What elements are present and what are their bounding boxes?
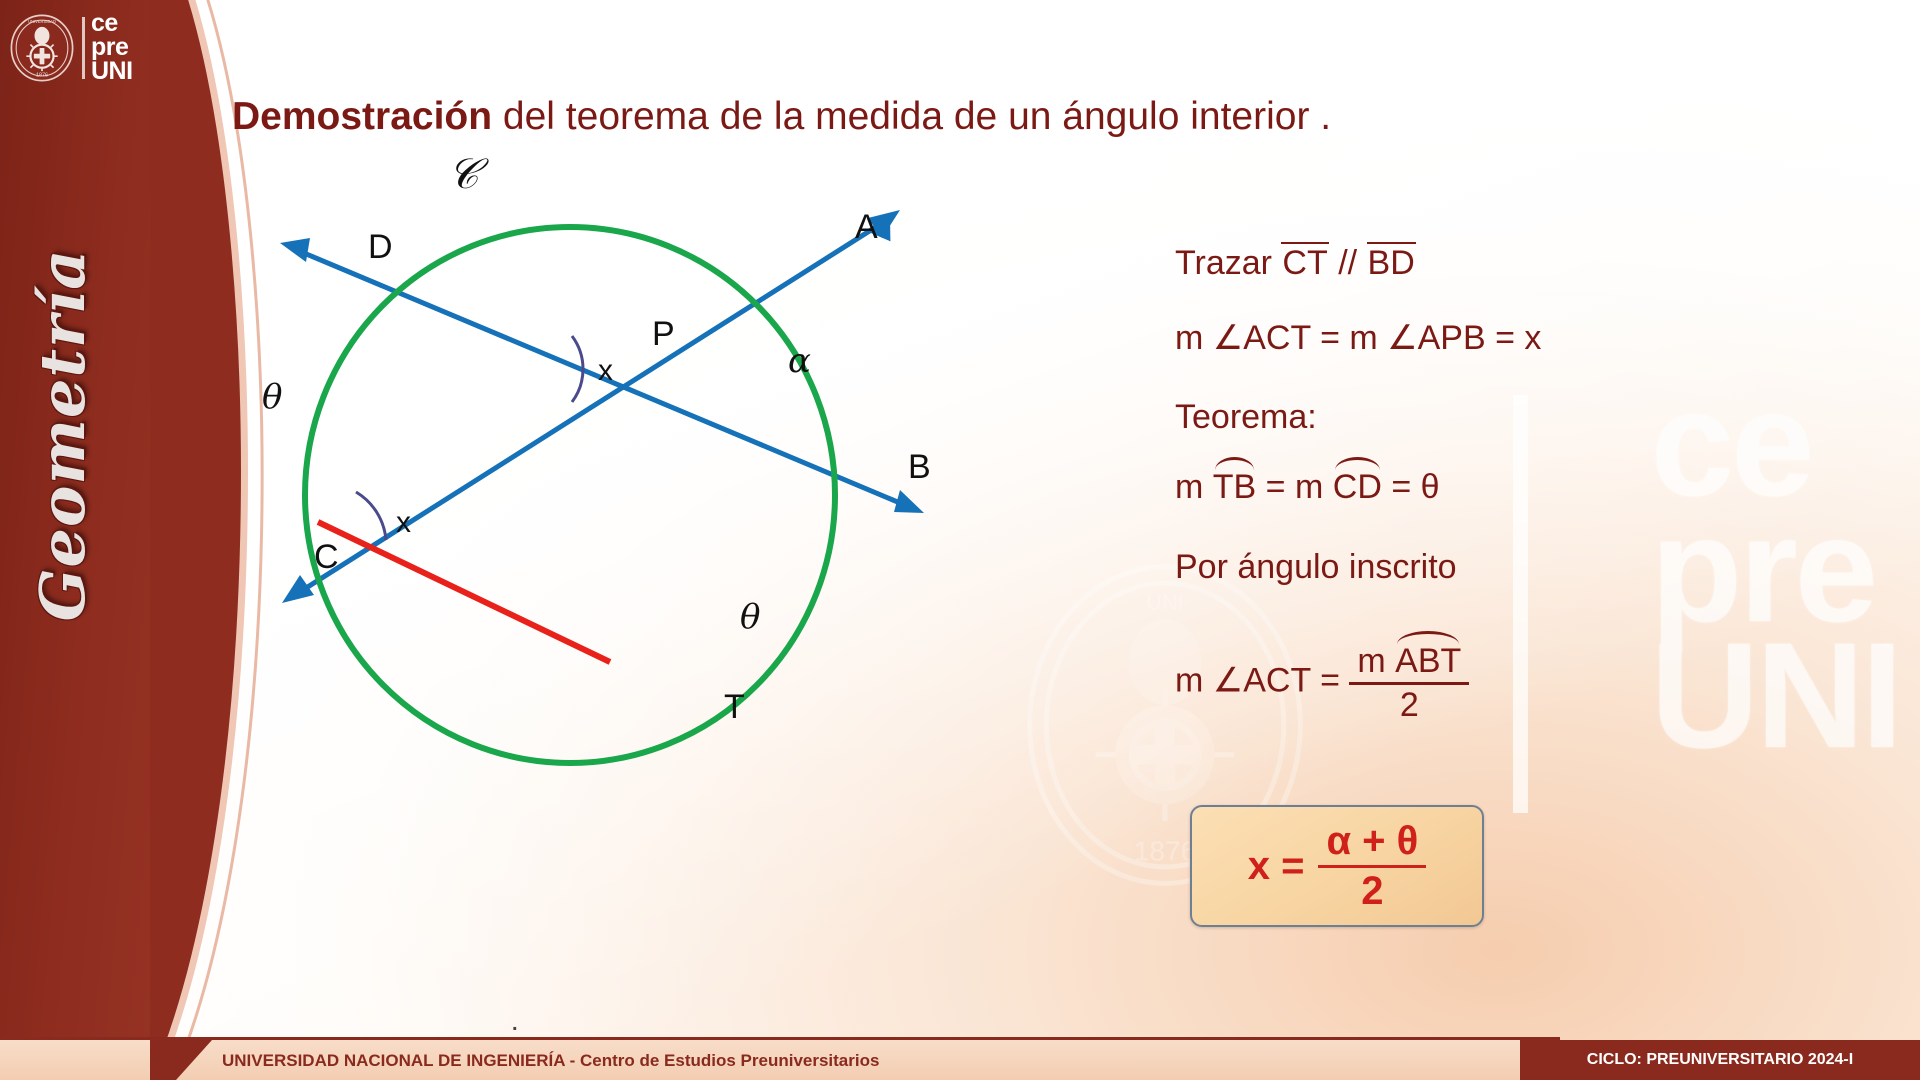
arc-tb-text: TB (1213, 468, 1256, 506)
angle-label-x-at-p: x (598, 354, 613, 387)
fraction-denominator: 2 (1349, 682, 1469, 725)
proof-line-trazar: Trazar CT // BD (1175, 244, 1416, 283)
angle-label-x-at-c: x (396, 506, 411, 539)
brand-logo: 1876 UNIVERSIDAD ce pre UNI (8, 6, 148, 90)
arrowhead-d (280, 238, 310, 262)
proof-arcs-mid: = m (1256, 468, 1333, 506)
circle-shape (305, 227, 835, 763)
arrowhead-b (894, 490, 924, 513)
svg-text:1876: 1876 (36, 73, 48, 79)
point-label-a: A (855, 208, 878, 246)
segment-bd: BD (1367, 242, 1416, 282)
sidebar-subject-text: Geometría (26, 249, 99, 622)
proof-line-inscribed-formula: m ∠ACT = m ABT 2 (1175, 640, 1469, 725)
result-formula-box: x = α + θ 2 (1190, 805, 1484, 927)
footer-wedge-decoration (150, 1040, 240, 1080)
proof-line-arcs: m TB = m CD = θ (1175, 466, 1440, 507)
page-title: Demostración del teorema de la medida de… (232, 95, 1331, 139)
footer-institution-text: UNIVERSIDAD NACIONAL DE INGENIERÍA - Cen… (222, 1051, 879, 1071)
proof-formula-lead: m ∠ACT = (1175, 661, 1349, 699)
segment-ct: CT (1281, 242, 1328, 282)
proof-line-angles: m ∠ACT = m ∠APB = x (1175, 318, 1541, 358)
footer-right-band: CICLO: PREUNIVERSITARIO 2024-I (1520, 1040, 1920, 1080)
page-title-bold: Demostración (232, 95, 492, 138)
proof-line-teorema: Teorema: (1175, 398, 1317, 437)
svg-text:UNIVERSIDAD: UNIVERSIDAD (28, 19, 56, 24)
point-label-c: C (314, 538, 339, 576)
point-label-t: T (724, 688, 745, 726)
watermark-bar (1513, 395, 1528, 813)
footer-dot-marker: . (512, 1013, 518, 1036)
proof-arcs-tail: = θ (1382, 468, 1440, 506)
arc-abt-text: ABT (1395, 642, 1461, 680)
fraction-abt-over-2: m ABT 2 (1349, 640, 1469, 725)
arc-cd: CD (1333, 466, 1382, 507)
slide-root: 1876 UNI ce pre UNI 1876 (0, 0, 1920, 1080)
page-title-rest: del teorema de la medida de un ángulo in… (492, 95, 1331, 138)
proof-trazar-lead: Trazar (1175, 244, 1281, 282)
proof-arcs-lead: m (1175, 468, 1213, 506)
logo-line-uni: UNI (91, 60, 133, 84)
result-lhs: x = (1248, 844, 1305, 889)
sidebar-subject-label: Geometría (0, 335, 272, 535)
logo-divider (82, 17, 85, 79)
footer-bar: UNIVERSIDAD NACIONAL DE INGENIERÍA - Cen… (0, 1040, 1920, 1080)
proof-line-inscrito: Por ángulo inscrito (1175, 548, 1457, 587)
point-label-p: P (652, 315, 675, 353)
uni-seal-icon: 1876 UNIVERSIDAD (8, 14, 76, 82)
proof-parallel-symbol: // (1329, 244, 1367, 282)
arc-label-theta-bottom: θ (740, 597, 760, 637)
arrowhead-c (282, 575, 314, 603)
point-label-b: B (908, 448, 931, 486)
arc-tb: TB (1213, 466, 1256, 507)
result-denominator: 2 (1318, 865, 1426, 914)
angle-arc-at-c (356, 492, 386, 540)
arc-abt: ABT (1395, 640, 1461, 681)
result-fraction: α + θ 2 (1318, 819, 1426, 914)
fraction-numerator: m ABT (1349, 640, 1469, 682)
logo-wordmark: ce pre UNI (91, 12, 133, 83)
arc-cd-text: CD (1333, 468, 1382, 506)
circle-name-label: 𝒞 (448, 149, 489, 198)
geometry-figure: A D P B C T 𝒞 x x θ α θ (200, 140, 1080, 900)
point-label-d: D (368, 228, 393, 266)
footer-cycle-text: CICLO: PREUNIVERSITARIO 2024-I (1587, 1051, 1853, 1069)
arc-label-alpha-right: α (788, 341, 811, 381)
fraction-num-lead: m (1357, 642, 1395, 680)
auxiliary-chord-ct (318, 522, 610, 662)
result-numerator: α + θ (1318, 819, 1426, 865)
